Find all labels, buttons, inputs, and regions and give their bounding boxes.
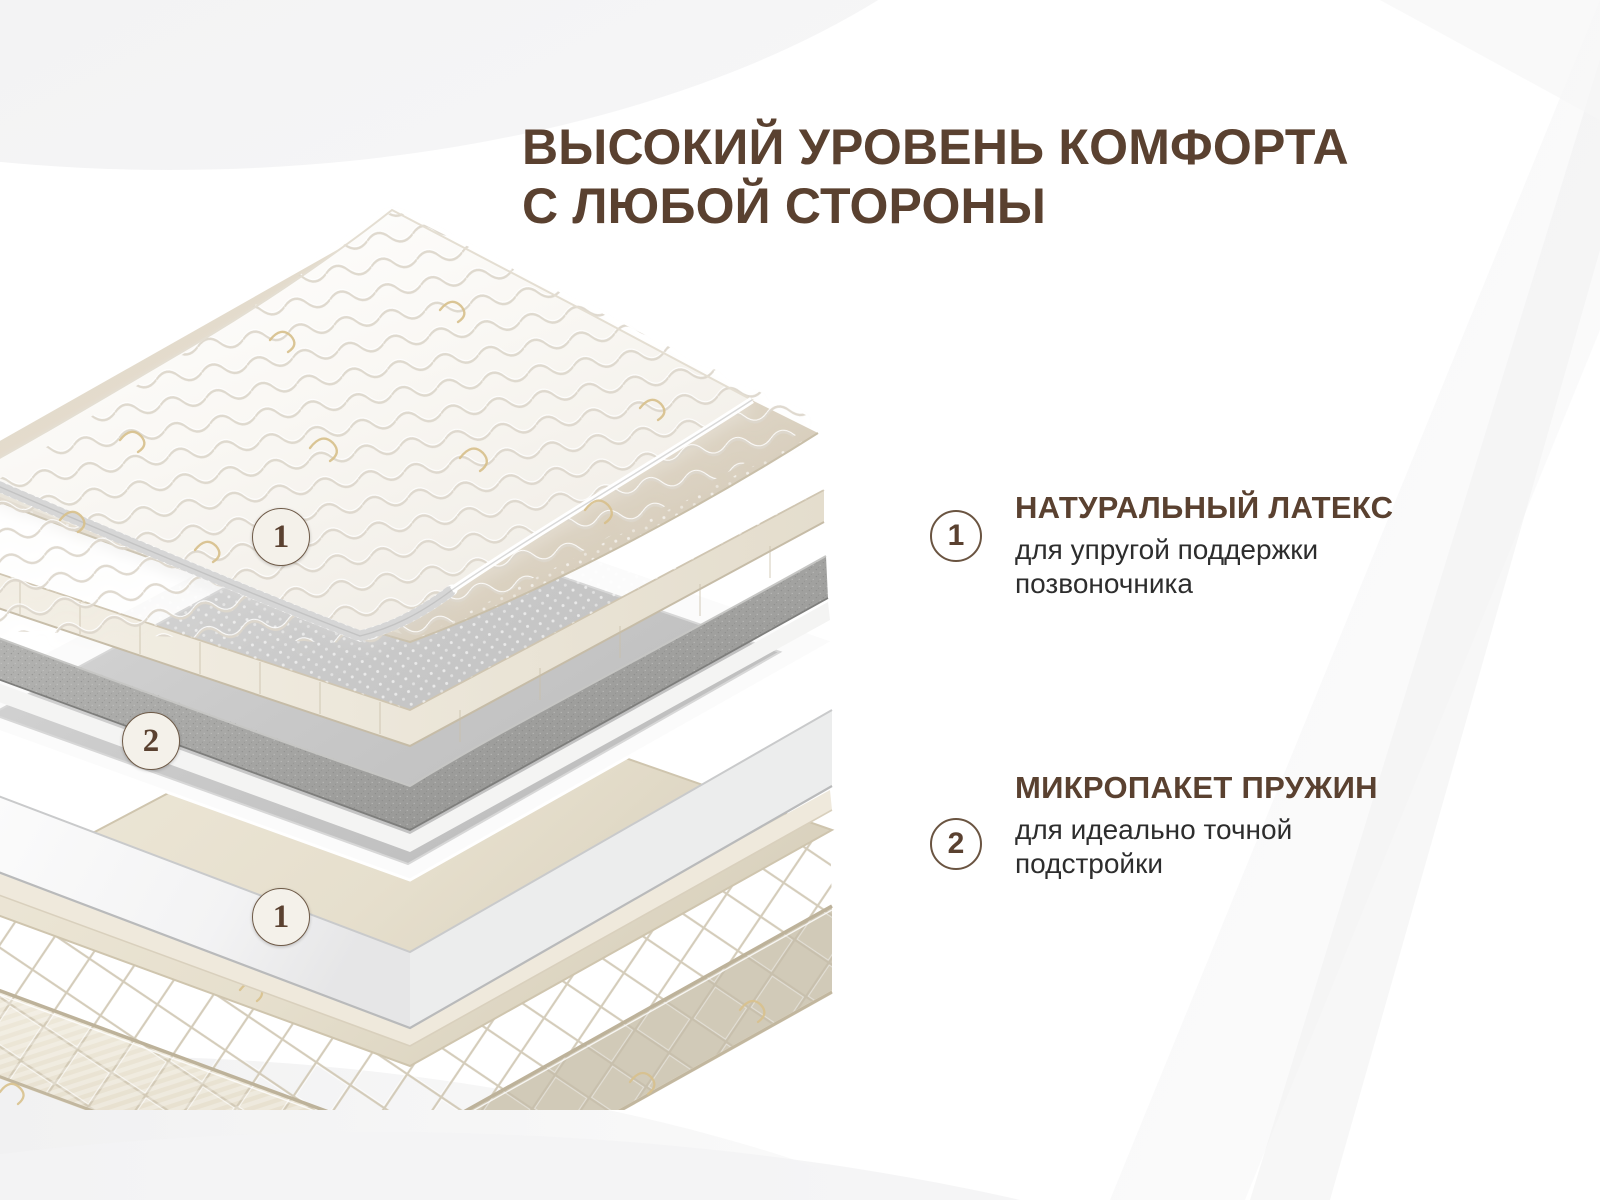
feature-badge-2: 2 [930, 818, 982, 870]
feature-list: 1 НАТУРАЛЬНЫЙ ЛАТЕКС для упругой поддерж… [930, 490, 1550, 1050]
artwork-badge-latex-bottom: 1 [252, 888, 310, 946]
artwork-badge-spring-number: 2 [143, 725, 160, 758]
feature-title-1: НАТУРАЛЬНЫЙ ЛАТЕКС [1015, 490, 1550, 526]
feature-title-2: МИКРОПАКЕТ ПРУЖИН [1015, 770, 1550, 806]
feature-text-2: МИКРОПАКЕТ ПРУЖИН для идеально точной по… [1015, 770, 1550, 881]
quilted-cover-flap [0, 190, 840, 670]
mattress-cutaway-illustration [0, 190, 840, 1110]
artwork-badge-latex-bottom-number: 1 [273, 901, 290, 934]
artwork-badge-latex-top-number: 1 [273, 521, 290, 554]
feature-desc-2: для идеально точной подстройки [1015, 813, 1550, 881]
feature-text-1: НАТУРАЛЬНЫЙ ЛАТЕКС для упругой поддержки… [1015, 490, 1550, 601]
feature-desc-1-line-2: позвоночника [1015, 567, 1550, 601]
feature-badge-1-number: 1 [948, 521, 965, 551]
infographic-canvas: ВЫСОКИЙ УРОВЕНЬ КОМФОРТА С ЛЮБОЙ СТОРОНЫ [0, 0, 1600, 1200]
feature-desc-2-line-1: для идеально точной [1015, 813, 1550, 847]
feature-badge-1: 1 [930, 510, 982, 562]
feature-desc-1-line-1: для упругой поддержки [1015, 533, 1550, 567]
artwork-badge-spring: 2 [122, 712, 180, 770]
feature-item-springs: 2 МИКРОПАКЕТ ПРУЖИН для идеально точной … [930, 770, 1550, 900]
feature-desc-2-line-2: подстройки [1015, 847, 1550, 881]
feature-item-latex: 1 НАТУРАЛЬНЫЙ ЛАТЕКС для упругой поддерж… [930, 490, 1550, 620]
feature-badge-2-number: 2 [948, 829, 965, 859]
artwork-badge-latex-top: 1 [252, 508, 310, 566]
feature-desc-1: для упругой поддержки позвоночника [1015, 533, 1550, 601]
title-line-1: ВЫСОКИЙ УРОВЕНЬ КОМФОРТА [522, 118, 1522, 177]
